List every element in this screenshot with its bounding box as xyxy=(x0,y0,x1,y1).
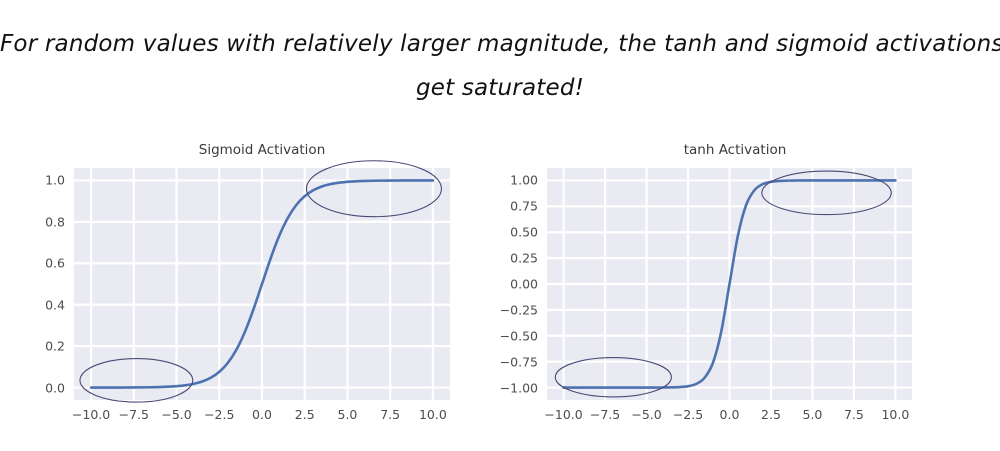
annotation-upper-saturation-ellipse xyxy=(306,161,441,217)
x-axis-tick-label: 0.0 xyxy=(720,407,740,422)
x-axis-tick-label: −7.5 xyxy=(590,407,620,422)
y-axis-tick-label: 1.00 xyxy=(510,173,538,188)
chart-title-tanh: tanh Activation xyxy=(235,142,1000,158)
x-axis-tick-label: 5.0 xyxy=(803,407,823,422)
y-axis-tick-label: −1.00 xyxy=(500,380,538,395)
y-axis-tick-label: 1.0 xyxy=(45,173,65,188)
x-axis-tick-label: 2.5 xyxy=(761,407,781,422)
chart-sigmoid: Sigmoid Activation 0.00.20.40.60.81.0−10… xyxy=(0,130,500,451)
x-axis-tick-label: 7.5 xyxy=(844,407,864,422)
x-axis-tick-label: 10.0 xyxy=(881,407,909,422)
x-axis-tick-label: −10.0 xyxy=(72,407,110,422)
y-axis-tick-label: 0.0 xyxy=(45,380,65,395)
plot-area-sigmoid: 0.00.20.40.60.81.0−10.0−7.5−5.0−2.50.02.… xyxy=(74,168,450,400)
y-axis-tick-label: −0.50 xyxy=(500,328,538,343)
plot-area-tanh: −1.00−0.75−0.50−0.250.000.250.500.751.00… xyxy=(547,168,912,400)
y-axis-tick-label: −0.25 xyxy=(500,302,538,317)
x-axis-tick-label: −5.0 xyxy=(631,407,661,422)
y-axis-tick-label: 0.25 xyxy=(510,251,538,266)
chart-tanh: tanh Activation −1.00−0.75−0.50−0.250.00… xyxy=(500,130,1000,451)
y-axis-tick-label: 0.8 xyxy=(45,214,65,229)
y-axis-tick-label: 0.75 xyxy=(510,199,538,214)
headline-caption: For random values with relatively larger… xyxy=(0,22,1000,110)
x-axis-tick-label: −7.5 xyxy=(119,407,149,422)
plot-svg-tanh xyxy=(547,168,912,400)
annotation-lower-saturation-ellipse xyxy=(555,358,671,397)
y-axis-tick-label: 0.6 xyxy=(45,256,65,271)
headline-line-2: get saturated! xyxy=(0,66,1000,110)
activation-figure: Sigmoid Activation 0.00.20.40.60.81.0−10… xyxy=(0,130,1000,451)
y-axis-tick-label: 0.50 xyxy=(510,225,538,240)
x-axis-tick-label: 5.0 xyxy=(338,407,358,422)
y-axis-tick-label: 0.2 xyxy=(45,339,65,354)
plot-svg-sigmoid xyxy=(74,168,450,400)
x-axis-tick-label: 0.0 xyxy=(252,407,272,422)
x-axis-tick-label: −5.0 xyxy=(161,407,191,422)
x-axis-tick-label: −2.5 xyxy=(673,407,703,422)
x-axis-tick-label: −10.0 xyxy=(544,407,582,422)
x-axis-tick-label: 2.5 xyxy=(295,407,315,422)
x-axis-tick-label: 7.5 xyxy=(380,407,400,422)
x-axis-tick-label: 10.0 xyxy=(419,407,447,422)
y-axis-tick-label: 0.00 xyxy=(510,277,538,292)
y-axis-tick-label: −0.75 xyxy=(500,354,538,369)
annotation-upper-saturation-ellipse xyxy=(762,171,891,215)
x-axis-tick-label: −2.5 xyxy=(204,407,234,422)
headline-line-1: For random values with relatively larger… xyxy=(0,22,1000,66)
y-axis-tick-label: 0.4 xyxy=(45,297,65,312)
